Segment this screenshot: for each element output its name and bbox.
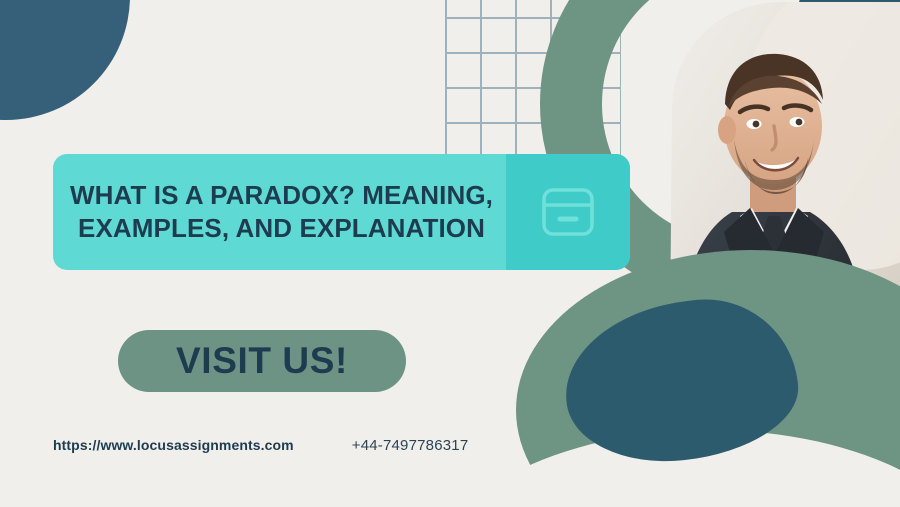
title-icon-panel	[506, 154, 630, 270]
businessman-photo	[612, 0, 900, 460]
blob-topright-decoration	[795, 0, 900, 137]
visit-us-button[interactable]: VISIT US!	[118, 330, 406, 392]
card-icon	[538, 182, 598, 242]
phone-number[interactable]: +44-7497786317	[352, 437, 469, 454]
arc-bottom-cutout	[430, 430, 900, 507]
title-text-area: WHAT IS A PARADOX? MEANING, EXAMPLES, AN…	[53, 154, 506, 270]
promotional-banner: WHAT IS A PARADOX? MEANING, EXAMPLES, AN…	[0, 0, 900, 507]
arc-bottom-decoration	[516, 250, 900, 507]
website-link[interactable]: https://www.locusassignments.com	[53, 437, 294, 453]
corner-circle-decoration	[0, 0, 130, 120]
footer-contact: https://www.locusassignments.com +44-749…	[53, 437, 468, 454]
title-banner: WHAT IS A PARADOX? MEANING, EXAMPLES, AN…	[53, 154, 630, 270]
grid-pattern-decoration	[445, 0, 621, 158]
page-title: WHAT IS A PARADOX? MEANING, EXAMPLES, AN…	[67, 179, 496, 246]
blob-center-decoration	[557, 290, 804, 471]
